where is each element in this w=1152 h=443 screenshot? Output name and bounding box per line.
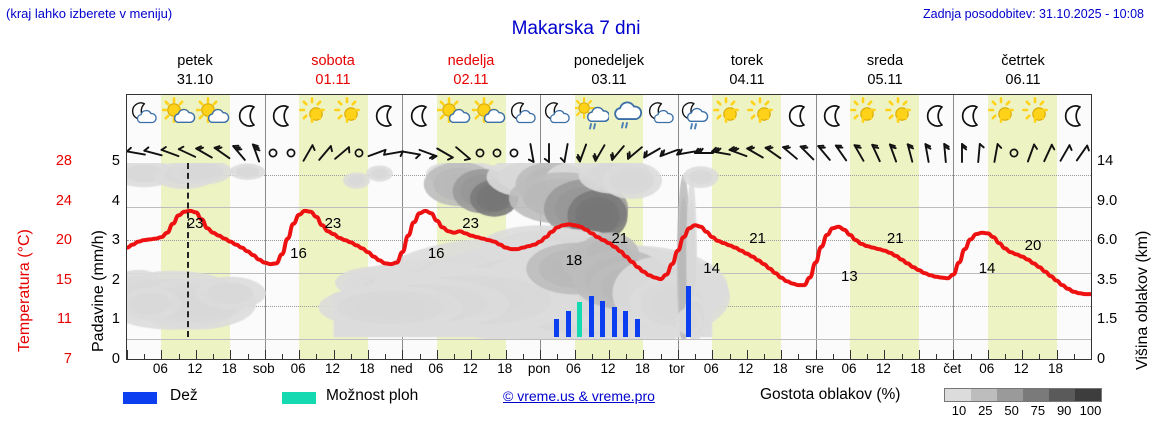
hour-tick bbox=[626, 354, 627, 359]
day-name: sreda bbox=[867, 53, 903, 69]
day-date: 31.10 bbox=[126, 71, 264, 90]
hour-tick bbox=[248, 354, 249, 359]
hour-label: 18 bbox=[212, 361, 246, 376]
hour-tick bbox=[127, 350, 128, 359]
temp-value-label: 21 bbox=[887, 230, 904, 247]
axis-tick-label: 20 bbox=[42, 232, 72, 248]
rain-legend-label: Dež bbox=[170, 387, 198, 405]
temp-value-label: 18 bbox=[566, 252, 583, 269]
day-date: 02.11 bbox=[402, 71, 540, 90]
temp-value-label: 16 bbox=[428, 245, 445, 262]
hour-tick bbox=[489, 354, 490, 359]
cloud-ramp-step bbox=[971, 389, 997, 401]
axis-tick-label: 6.0 bbox=[1097, 232, 1137, 248]
day-header-row: petek31.10sobota01.11nedelja02.11ponedel… bbox=[126, 52, 1092, 92]
cloud-density-ramp-labels: 1025507590100 bbox=[938, 403, 1113, 419]
day-name: četrtek bbox=[1001, 53, 1045, 69]
day-date: 01.11 bbox=[264, 71, 402, 90]
axis-tick-label: 11 bbox=[42, 311, 72, 327]
cloud-height-axis-title: Višina oblakov (km) bbox=[1134, 231, 1152, 370]
moon-icon bbox=[816, 97, 850, 135]
hour-tick bbox=[798, 354, 799, 359]
wind-barb-icon bbox=[1071, 137, 1092, 163]
hour-label: 12 bbox=[453, 361, 487, 376]
hour-tick bbox=[902, 354, 903, 359]
day-date: 05.11 bbox=[816, 71, 954, 90]
temp-value-label: 13 bbox=[841, 268, 858, 285]
hour-label: 12 bbox=[1004, 361, 1038, 376]
hour-label: 12 bbox=[866, 361, 900, 376]
day-name: sobota bbox=[311, 53, 355, 69]
hour-tick bbox=[230, 350, 231, 359]
cloud-ramp-step bbox=[997, 389, 1023, 401]
axis-tick-label: 9.0 bbox=[1097, 193, 1137, 209]
hour-tick bbox=[161, 350, 162, 359]
cloud-ramp-tick: 50 bbox=[999, 403, 1025, 418]
hour-tick bbox=[971, 354, 972, 359]
hour-tick bbox=[351, 354, 352, 359]
moon-icon bbox=[368, 97, 402, 135]
hour-tick bbox=[936, 354, 937, 359]
hour-label: 12 bbox=[591, 361, 625, 376]
hour-label: 06 bbox=[970, 361, 1004, 376]
hour-tick bbox=[402, 350, 403, 359]
temperature-curve bbox=[127, 163, 1092, 339]
hour-tick bbox=[884, 350, 885, 359]
hour-label: 06 bbox=[694, 361, 728, 376]
chart-body: 2316231623182114211321142012 bbox=[127, 163, 1091, 337]
hour-tick bbox=[282, 354, 283, 359]
cloud-density-color-ramp bbox=[944, 388, 1102, 402]
sun-cloud-rain-icon bbox=[575, 97, 609, 135]
sun-cloud-icon bbox=[472, 97, 506, 135]
last-update-text: Zadnja posodobitev: 31.10.2025 - 10:08 bbox=[923, 7, 1144, 21]
moon-icon bbox=[231, 97, 265, 135]
hour-tick bbox=[420, 354, 421, 359]
cloud-density-legend-title: Gostota oblakov (%) bbox=[760, 386, 900, 404]
day-header-0: petek31.10 bbox=[126, 52, 264, 92]
hour-label: pon bbox=[522, 361, 556, 376]
temp-value-label: 14 bbox=[979, 260, 996, 277]
hour-tick bbox=[730, 354, 731, 359]
sun-cloud-icon bbox=[162, 97, 196, 135]
day-header-5: sreda05.11 bbox=[816, 52, 954, 92]
hour-tick bbox=[575, 350, 576, 359]
hour-label: 06 bbox=[832, 361, 866, 376]
moon-icon bbox=[403, 97, 437, 135]
current-time-marker bbox=[187, 163, 189, 337]
moon-cloud-icon bbox=[127, 97, 161, 135]
axis-tick-label: 3.5 bbox=[1097, 272, 1137, 288]
hour-tick bbox=[953, 350, 954, 359]
hour-tick bbox=[385, 354, 386, 359]
hour-tick bbox=[265, 350, 266, 359]
temp-value-label: 21 bbox=[611, 230, 628, 247]
copyright-link[interactable]: © vreme.us & vreme.pro bbox=[503, 388, 655, 404]
axis-tick-label: 0 bbox=[104, 351, 120, 367]
day-date: 03.11 bbox=[540, 71, 678, 90]
sun-icon bbox=[299, 97, 333, 135]
hour-tick bbox=[1022, 350, 1023, 359]
shower-swatch bbox=[282, 392, 316, 404]
axis-tick-label: 28 bbox=[42, 153, 72, 169]
hour-label: 18 bbox=[488, 361, 522, 376]
hour-tick bbox=[712, 350, 713, 359]
axis-tick-label: 15 bbox=[42, 272, 72, 288]
moon-icon bbox=[1057, 97, 1091, 135]
hour-tick bbox=[816, 350, 817, 359]
hour-tick bbox=[1074, 354, 1075, 359]
hour-tick bbox=[592, 354, 593, 359]
hour-label: sre bbox=[798, 361, 832, 376]
page-title: Makarska 7 dni bbox=[0, 18, 1152, 40]
sun-icon bbox=[747, 97, 781, 135]
cloud-ramp-step bbox=[1049, 389, 1075, 401]
hour-label: 18 bbox=[350, 361, 384, 376]
sun-icon bbox=[885, 97, 919, 135]
day-header-3: ponedeljek03.11 bbox=[540, 52, 678, 92]
sun-icon bbox=[1022, 97, 1056, 135]
hour-label: 12 bbox=[316, 361, 350, 376]
axis-tick-label: 7 bbox=[42, 351, 72, 367]
sun-cloud-icon bbox=[437, 97, 471, 135]
day-date: 06.11 bbox=[954, 71, 1092, 90]
cloud-ramp-tick: 25 bbox=[972, 403, 998, 418]
wind-barb-strip bbox=[127, 137, 1091, 163]
cloud-ramp-step bbox=[945, 389, 971, 401]
hour-tick bbox=[867, 354, 868, 359]
axis-tick-label: 1.5 bbox=[1097, 311, 1137, 327]
temp-value-label: 14 bbox=[703, 260, 720, 277]
day-name: ponedeljek bbox=[574, 53, 644, 69]
hour-tick-strip bbox=[127, 337, 1091, 359]
axis-tick-label: 0 bbox=[1097, 351, 1137, 367]
hour-tick bbox=[540, 350, 541, 359]
hour-tick bbox=[334, 350, 335, 359]
hour-tick bbox=[747, 350, 748, 359]
rain-swatch bbox=[123, 392, 157, 404]
hour-tick bbox=[368, 350, 369, 359]
day-header-1: sobota01.11 bbox=[264, 52, 402, 92]
moon-cloud-icon bbox=[644, 97, 678, 135]
shower-legend-label: Možnost ploh bbox=[326, 387, 418, 405]
cloud-ramp-step bbox=[1075, 389, 1101, 401]
weather-icon-strip bbox=[127, 95, 1091, 137]
hour-label: 18 bbox=[901, 361, 935, 376]
temp-value-label: 23 bbox=[325, 215, 342, 232]
axis-tick-label: 14 bbox=[1097, 153, 1137, 169]
hour-tick bbox=[299, 350, 300, 359]
axis-tick-label: 2 bbox=[104, 272, 120, 288]
moon-cloud-icon bbox=[506, 97, 540, 135]
hour-tick bbox=[557, 354, 558, 359]
day-header-2: nedelja02.11 bbox=[402, 52, 540, 92]
hour-label: 18 bbox=[1039, 361, 1073, 376]
hour-tick bbox=[919, 350, 920, 359]
hour-tick bbox=[213, 354, 214, 359]
cloud-ramp-tick: 10 bbox=[946, 403, 972, 418]
hour-tick bbox=[678, 350, 679, 359]
hour-tick bbox=[1057, 350, 1058, 359]
hour-label: 06 bbox=[281, 361, 315, 376]
hour-tick bbox=[850, 350, 851, 359]
hour-tick bbox=[1091, 350, 1092, 359]
hour-tick bbox=[781, 350, 782, 359]
hour-label: 18 bbox=[763, 361, 797, 376]
moon-icon bbox=[265, 97, 299, 135]
axis-tick-label: 5 bbox=[104, 153, 120, 169]
hour-tick bbox=[643, 350, 644, 359]
hour-tick bbox=[988, 350, 989, 359]
day-header-4: torek04.11 bbox=[678, 52, 816, 92]
cloud-ramp-tick: 90 bbox=[1051, 403, 1077, 418]
day-date: 04.11 bbox=[678, 71, 816, 90]
temp-value-label: 23 bbox=[462, 215, 479, 232]
sun-icon bbox=[713, 97, 747, 135]
moon-cloud-rain-icon bbox=[678, 97, 712, 135]
axis-tick-label: 24 bbox=[42, 193, 72, 209]
hour-tick bbox=[196, 350, 197, 359]
hour-tick bbox=[144, 354, 145, 359]
hour-label: 06 bbox=[419, 361, 453, 376]
hour-label: 18 bbox=[625, 361, 659, 376]
hour-tick bbox=[179, 354, 180, 359]
temp-value-label: 21 bbox=[749, 230, 766, 247]
hour-tick bbox=[316, 354, 317, 359]
sun-cloud-icon bbox=[196, 97, 230, 135]
hour-tick bbox=[1039, 354, 1040, 359]
hour-tick bbox=[764, 354, 765, 359]
sun-icon bbox=[850, 97, 884, 135]
hour-label: 12 bbox=[178, 361, 212, 376]
hour-tick bbox=[833, 354, 834, 359]
hour-axis-labels: 061218sob061218ned061218pon061218tor0612… bbox=[126, 361, 1092, 381]
day-name: nedelja bbox=[448, 53, 495, 69]
day-header-6: četrtek06.11 bbox=[954, 52, 1092, 92]
hour-tick bbox=[506, 350, 507, 359]
moon-icon bbox=[781, 97, 815, 135]
hour-tick bbox=[1005, 354, 1006, 359]
meteogram-plot: 2316231623182114211321142012 bbox=[126, 94, 1092, 360]
temp-value-label: 23 bbox=[187, 215, 204, 232]
hour-tick bbox=[471, 350, 472, 359]
cloud-rain-icon bbox=[609, 97, 643, 135]
moon-icon bbox=[919, 97, 953, 135]
day-name: torek bbox=[731, 53, 763, 69]
hour-tick bbox=[437, 350, 438, 359]
hour-label: tor bbox=[660, 361, 694, 376]
hour-label: ned bbox=[384, 361, 418, 376]
temperature-axis-title: Temperatura (°C) bbox=[16, 229, 34, 352]
sun-icon bbox=[988, 97, 1022, 135]
day-name: petek bbox=[177, 53, 212, 69]
hour-tick bbox=[523, 354, 524, 359]
hour-label: 06 bbox=[143, 361, 177, 376]
hour-tick bbox=[454, 354, 455, 359]
temp-value-label: 16 bbox=[290, 245, 307, 262]
axis-tick-label: 4 bbox=[104, 193, 120, 209]
hour-label: čet bbox=[935, 361, 969, 376]
cloud-ramp-tick: 75 bbox=[1025, 403, 1051, 418]
cloud-ramp-step bbox=[1023, 389, 1049, 401]
hour-label: sob bbox=[247, 361, 281, 376]
moon-cloud-icon bbox=[540, 97, 574, 135]
legend: Dež Možnost ploh © vreme.us & vreme.pro … bbox=[0, 386, 1152, 418]
axis-tick-label: 3 bbox=[104, 232, 120, 248]
hour-tick bbox=[609, 350, 610, 359]
hour-label: 12 bbox=[729, 361, 763, 376]
hour-tick bbox=[661, 354, 662, 359]
axis-tick-label: 1 bbox=[104, 311, 120, 327]
temp-value-label: 20 bbox=[1025, 237, 1042, 254]
sun-icon bbox=[334, 97, 368, 135]
moon-icon bbox=[954, 97, 988, 135]
hour-tick bbox=[695, 354, 696, 359]
hour-label: 06 bbox=[557, 361, 591, 376]
precipitation-axis-title: Padavine (mm/h) bbox=[90, 230, 108, 352]
cloud-ramp-tick: 100 bbox=[1078, 403, 1104, 418]
